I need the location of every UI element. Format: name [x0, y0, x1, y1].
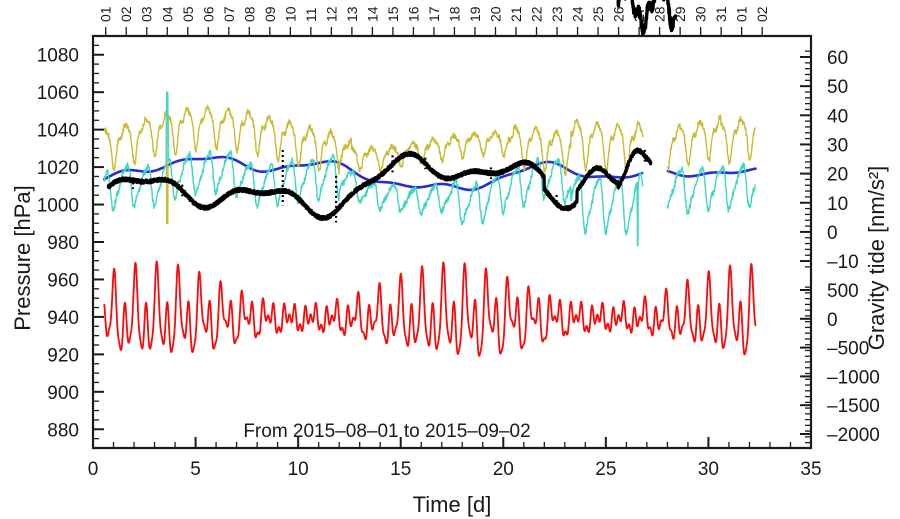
- y-left-tick-label: 880: [47, 420, 79, 441]
- y-right-lower-tick-label: –2000: [827, 425, 880, 446]
- x-tick-label: 35: [800, 459, 821, 480]
- top-axis-day-label: 03: [139, 6, 155, 22]
- top-axis-day-label: 06: [200, 6, 216, 22]
- x-tick-label: 20: [493, 459, 514, 480]
- y-left-tick-label: 900: [47, 383, 79, 404]
- y-left-tick-label: 1000: [37, 196, 79, 217]
- top-axis-day-label: 05: [180, 6, 196, 22]
- top-axis-day-label: 08: [241, 6, 257, 22]
- x-tick-label: 25: [595, 459, 616, 480]
- y-left-tick-label: 980: [47, 233, 79, 254]
- top-axis-day-label: 02: [754, 6, 770, 22]
- top-axis-day-label: 13: [344, 6, 360, 22]
- y-axis-right-title: Gravity tide [nm/s²]: [864, 166, 889, 351]
- y-right-lower-tick-label: –1500: [827, 396, 880, 417]
- top-axis-day-label: 02: [118, 6, 134, 22]
- top-axis-day-label: 17: [426, 6, 442, 22]
- x-tick-label: 30: [698, 459, 719, 480]
- y-right-lower-tick-label: –500: [827, 339, 869, 360]
- top-axis-day-label: 15: [385, 6, 401, 22]
- y-right-lower-tick-label: 500: [827, 281, 859, 302]
- y-left-tick-label: 1040: [37, 121, 79, 142]
- x-tick-label: 0: [88, 459, 99, 480]
- y-left-tick-label: 940: [47, 308, 79, 329]
- chart-figure: 88090092094096098010001020104010601080 6…: [0, 0, 900, 519]
- gravity-pressure-timeseries-plot: 88090092094096098010001020104010601080 6…: [0, 0, 900, 519]
- y-right-upper-tick-label: 60: [827, 48, 848, 69]
- top-axis-day-label: 20: [487, 6, 503, 22]
- top-axis-day-label: 31: [713, 6, 729, 22]
- x-tick-label: 5: [190, 459, 201, 480]
- top-axis-day-label: 24: [570, 6, 586, 22]
- top-axis-day-label: 01: [98, 6, 114, 22]
- y-right-upper-tick-label: 20: [827, 165, 848, 186]
- y-right-upper-tick-label: 40: [827, 106, 848, 127]
- y-right-upper-tick-label: 10: [827, 194, 848, 215]
- top-axis-day-label: 25: [590, 6, 606, 22]
- y-right-lower-tick-label: –1000: [827, 367, 880, 388]
- y-left-tick-label: 960: [47, 270, 79, 291]
- top-axis-day-label: 21: [508, 6, 524, 22]
- y-right-upper-tick-label: –10: [827, 252, 859, 273]
- y-right-upper-tick-label: 50: [827, 77, 848, 98]
- x-axis-title: Time [d]: [413, 492, 492, 517]
- top-axis-day-label: 01: [734, 6, 750, 22]
- top-axis-day-label: 18: [446, 6, 462, 22]
- y-left-tick-label: 1020: [37, 158, 79, 179]
- y-axis-left-title: Pressure [hPa]: [10, 185, 35, 331]
- x-tick-label: 15: [390, 459, 411, 480]
- top-axis-day-label: 07: [221, 6, 237, 22]
- y-left-tick-label: 1080: [37, 46, 79, 67]
- y-left-tick-label: 920: [47, 345, 79, 366]
- date-range-annotation: From 2015–08–01 to 2015–09–02: [243, 421, 530, 442]
- y-right-upper-tick-label: 0: [827, 223, 838, 244]
- top-axis-day-label: 14: [364, 6, 380, 22]
- x-tick-label: 10: [288, 459, 309, 480]
- top-axis-day-label: 26: [611, 6, 627, 22]
- top-axis-day-label: 04: [159, 6, 175, 22]
- top-axis-day-label: 11: [303, 7, 319, 22]
- top-axis-day-label: 09: [262, 6, 278, 22]
- top-axis-day-label: 10: [282, 6, 298, 22]
- top-axis-day-label: 22: [529, 6, 545, 22]
- y-right-upper-tick-label: 30: [827, 135, 848, 156]
- y-left-tick-label: 1060: [37, 83, 79, 104]
- top-axis-day-label: 23: [549, 6, 565, 22]
- top-axis-day-label: 19: [467, 6, 483, 22]
- top-axis-day-label: 16: [405, 6, 421, 22]
- y-right-lower-tick-label: 0: [827, 310, 838, 331]
- top-axis-day-label: 30: [693, 6, 709, 22]
- top-axis-day-label: 12: [323, 6, 339, 22]
